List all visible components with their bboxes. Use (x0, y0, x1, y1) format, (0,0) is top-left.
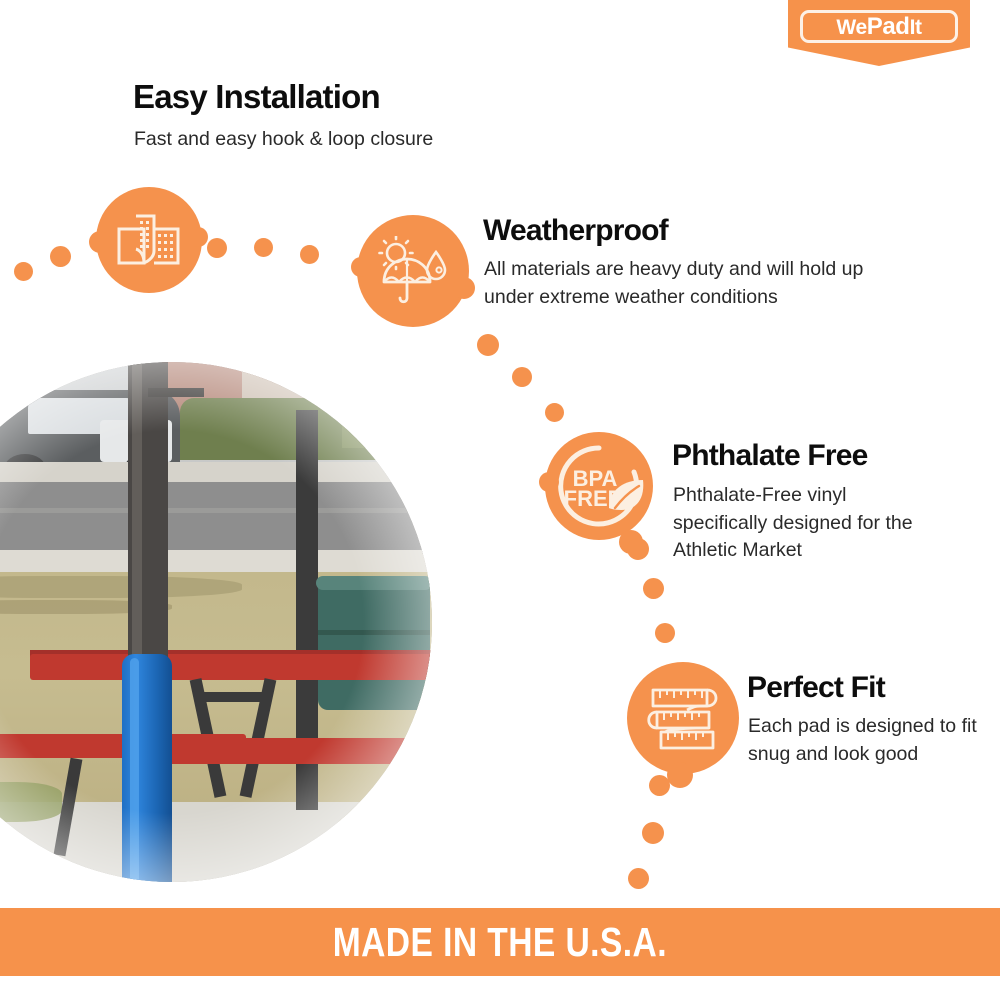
blob-bump (539, 472, 559, 492)
feature-title-weatherproof: Weatherproof (483, 215, 668, 247)
photo-hedge-secondary (342, 388, 432, 448)
trail-dot (627, 538, 649, 560)
made-in-usa-text: MADE IN THE U.S.A. (333, 919, 667, 966)
blob-bump (667, 762, 693, 788)
feature-desc-perfect-fit: Each pad is designed to fit snug and loo… (748, 713, 978, 768)
feature-title-easy-installation: Easy Installation (133, 80, 380, 115)
feature-icon-weatherproof (357, 215, 469, 327)
brand-logo-text: WePadIt (836, 15, 921, 39)
brand-logo-frame: WePadIt (800, 10, 958, 43)
brand-logo-pad: Pad (867, 13, 910, 40)
brand-logo-we: We (836, 16, 866, 39)
feature-title-perfect-fit: Perfect Fit (747, 672, 885, 704)
umbrella-sun-raindrop-icon (376, 236, 450, 306)
bpa-free-leaf-icon: BPA FREE (551, 438, 647, 534)
trail-dot (207, 238, 227, 258)
photo-road (0, 482, 432, 554)
photo-trash-barrel-band (318, 630, 430, 635)
photo-trash-barrel (318, 578, 430, 710)
trail-dot (655, 623, 675, 643)
photo-road-line (0, 508, 432, 513)
feature-icon-easy-installation (96, 187, 202, 293)
feature-desc-phthalate-free: Phthalate-Free vinyl specifically design… (673, 482, 943, 565)
photo-picnic-table-top (30, 654, 432, 680)
blob-bump (453, 277, 475, 299)
trail-dot (643, 578, 664, 599)
trail-dot (300, 245, 319, 264)
photo-table-brace (204, 692, 270, 702)
brand-logo-badge: WePadIt (788, 0, 970, 66)
photo-trash-barrel-rim (316, 576, 432, 590)
feature-desc-weatherproof: All materials are heavy duty and will ho… (484, 256, 914, 311)
feature-desc-easy-installation: Fast and easy hook & loop closure (134, 126, 554, 154)
trail-dot (50, 246, 71, 267)
measuring-tape-icon (643, 680, 723, 756)
feature-icon-perfect-fit (627, 662, 739, 774)
photo-grass-shadow (0, 576, 242, 598)
blob-bump (188, 227, 208, 247)
photo-pole-pad-highlight (130, 658, 139, 882)
brand-logo-it: It (910, 16, 922, 39)
feature-icon-phthalate-free: BPA FREE (545, 432, 653, 540)
trail-dot (628, 868, 649, 889)
trail-dot (649, 775, 670, 796)
trail-dot (512, 367, 532, 387)
made-in-usa-banner: MADE IN THE U.S.A. (0, 908, 1000, 976)
trail-dot (14, 262, 33, 281)
trail-dot (254, 238, 273, 257)
feature-title-phthalate-free: Phthalate Free (672, 440, 868, 472)
photo-grass-patch (0, 782, 62, 822)
infographic-canvas: WePadIt Easy Installation Fast and easy … (0, 0, 1000, 987)
trail-dot (477, 334, 499, 356)
trail-dot (545, 403, 564, 422)
blob-bump (351, 257, 371, 277)
hook-and-loop-icon (116, 211, 182, 269)
photo-post-arm (148, 388, 204, 397)
product-photo (0, 362, 432, 882)
trail-dot (642, 822, 664, 844)
photo-bench (168, 738, 432, 764)
photo-main-post-highlight (132, 362, 142, 672)
blob-bump (89, 231, 111, 253)
